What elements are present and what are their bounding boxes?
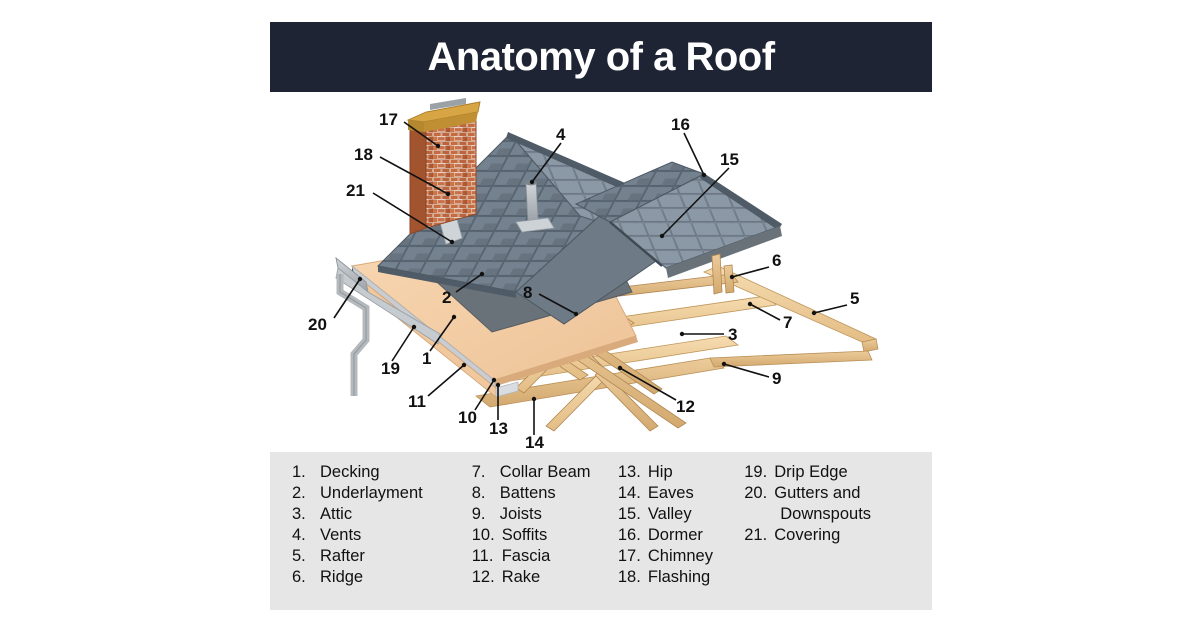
legend-item: 18. Flashing <box>618 567 744 588</box>
legend-item: 19. Drip Edge <box>744 462 922 483</box>
callout-dot-3 <box>680 332 684 336</box>
page-title: Anatomy of a Roof <box>427 37 774 77</box>
legend-number: 7. <box>472 462 500 483</box>
legend-label: Decking <box>320 462 380 483</box>
callout-dot-2 <box>480 272 484 276</box>
callout-leader-19 <box>392 327 414 361</box>
callout-dot-14 <box>532 397 536 401</box>
callout-dot-8 <box>574 312 578 316</box>
callout-dot-5 <box>812 311 816 315</box>
legend-item: 8. Battens <box>472 483 618 504</box>
legend-label: Eaves <box>648 483 694 504</box>
callout-number-19: 19 <box>381 359 400 378</box>
callout-number-20: 20 <box>308 315 327 334</box>
legend-number: 13. <box>618 462 648 483</box>
callout-dot-12 <box>618 366 622 370</box>
callout-dot-10 <box>492 378 496 382</box>
callout-number-6: 6 <box>772 251 781 270</box>
callout-number-10: 10 <box>458 408 477 427</box>
legend-item: 14. Eaves <box>618 483 744 504</box>
callout-number-7: 7 <box>783 313 792 332</box>
legend-label: Fascia <box>502 546 551 567</box>
legend-item: 15. Valley <box>618 504 744 525</box>
callout-dot-17 <box>436 144 440 148</box>
legend-label: Drip Edge <box>774 462 847 483</box>
legend-number: 5. <box>292 546 320 567</box>
dormer-support-post <box>712 254 722 294</box>
legend-panel: 1. Decking 2. Underlayment 3. Attic 4. V… <box>270 452 932 610</box>
legend-column-1: 1. Decking 2. Underlayment 3. Attic 4. V… <box>292 462 472 604</box>
callout-number-13: 13 <box>489 419 508 438</box>
legend-label: Soffits <box>502 525 548 546</box>
callout-number-16: 16 <box>671 115 690 134</box>
legend-item-continuation: Downspouts <box>744 504 922 525</box>
legend-label: Underlayment <box>320 483 423 504</box>
callout-dot-18 <box>446 192 450 196</box>
legend-item: 1. Decking <box>292 462 472 483</box>
legend-item: 17. Chimney <box>618 546 744 567</box>
legend-item: 5. Rafter <box>292 546 472 567</box>
callout-dot-11 <box>462 363 466 367</box>
callout-number-5: 5 <box>850 289 859 308</box>
roof-illustration: 17 18 21 4 16 15 <box>280 96 920 446</box>
callout-dot-13 <box>496 383 500 387</box>
title-banner: Anatomy of a Roof <box>270 22 932 92</box>
callout-leader-5 <box>814 305 847 313</box>
legend-number: 15. <box>618 504 648 525</box>
rafter-lower <box>710 351 872 367</box>
vent-pipe <box>526 182 538 222</box>
legend-label: Collar Beam <box>500 462 591 483</box>
legend-number: 21. <box>744 525 774 546</box>
legend-number: 18. <box>618 567 648 588</box>
callout-dot-7 <box>748 302 752 306</box>
callout-number-4: 4 <box>556 125 566 144</box>
legend-item: 12. Rake <box>472 567 618 588</box>
callout-dot-6 <box>730 275 734 279</box>
legend-label: Gutters and <box>774 483 860 504</box>
legend-label: Vents <box>320 525 361 546</box>
legend-label: Battens <box>500 483 556 504</box>
legend-number: 10. <box>472 525 502 546</box>
callout-number-17: 17 <box>379 110 398 129</box>
callout-number-1: 1 <box>422 349 431 368</box>
legend-number: 6. <box>292 567 320 588</box>
callout-dot-19 <box>412 325 416 329</box>
callout-number-14: 14 <box>525 433 544 452</box>
legend-label: Flashing <box>648 567 710 588</box>
legend-columns: 1. Decking 2. Underlayment 3. Attic 4. V… <box>292 462 922 604</box>
legend-item: 3. Attic <box>292 504 472 525</box>
callout-number-8: 8 <box>523 283 532 302</box>
callout-leader-6 <box>732 267 769 277</box>
callout-dot-1 <box>452 315 456 319</box>
legend-number: 12. <box>472 567 502 588</box>
legend-label: Covering <box>774 525 840 546</box>
legend-number: 2. <box>292 483 320 504</box>
legend-item: 16. Dormer <box>618 525 744 546</box>
callout-dot-20 <box>358 277 362 281</box>
legend-item: 10. Soffits <box>472 525 618 546</box>
legend-label: Valley <box>648 504 692 525</box>
legend-label: Attic <box>320 504 352 525</box>
legend-number: 11. <box>472 546 502 567</box>
legend-label: Ridge <box>320 567 363 588</box>
legend-item: 6. Ridge <box>292 567 472 588</box>
callout-number-11: 11 <box>408 392 426 411</box>
legend-label: Chimney <box>648 546 713 567</box>
legend-item: 7. Collar Beam <box>472 462 618 483</box>
callout-dot-4 <box>530 180 534 184</box>
legend-item: 21. Covering <box>744 525 922 546</box>
legend-number: 14. <box>618 483 648 504</box>
legend-label: Dormer <box>648 525 703 546</box>
callout-dot-21 <box>450 240 454 244</box>
legend-number: 17. <box>618 546 648 567</box>
callout-number-12: 12 <box>676 397 695 416</box>
callout-leader-11 <box>428 365 464 396</box>
callout-number-15: 15 <box>720 150 739 169</box>
callout-number-9: 9 <box>772 369 781 388</box>
legend-number: 19. <box>744 462 774 483</box>
callout-number-18: 18 <box>354 145 373 164</box>
callout-number-2: 2 <box>442 288 451 307</box>
legend-item: 13. Hip <box>618 462 744 483</box>
legend-label: Hip <box>648 462 673 483</box>
legend-number: 8. <box>472 483 500 504</box>
legend-number: 20. <box>744 483 774 504</box>
callout-dot-9 <box>722 362 726 366</box>
legend-number: 3. <box>292 504 320 525</box>
legend-label: Downspouts <box>774 504 871 525</box>
legend-number: 4. <box>292 525 320 546</box>
infographic-canvas: Anatomy of a Roof <box>0 0 1200 630</box>
callout-number-21: 21 <box>346 181 365 200</box>
legend-item: 2. Underlayment <box>292 483 472 504</box>
legend-label: Rafter <box>320 546 365 567</box>
legend-number: 9. <box>472 504 500 525</box>
legend-item: 4. Vents <box>292 525 472 546</box>
legend-item: 11. Fascia <box>472 546 618 567</box>
legend-label: Rake <box>502 567 541 588</box>
callout-number-3: 3 <box>728 325 737 344</box>
legend-number: 1. <box>292 462 320 483</box>
callout-dot-15 <box>660 234 664 238</box>
legend-column-4: 19. Drip Edge 20. Gutters and Downspouts… <box>744 462 922 604</box>
legend-item: 9. Joists <box>472 504 618 525</box>
legend-label: Joists <box>500 504 542 525</box>
legend-column-2: 7. Collar Beam 8. Battens 9. Joists 10. … <box>472 462 618 604</box>
legend-column-3: 13. Hip 14. Eaves 15. Valley 16. Dormer … <box>618 462 744 604</box>
legend-number: 16. <box>618 525 648 546</box>
callout-dot-16 <box>702 173 706 177</box>
legend-item: 20. Gutters and <box>744 483 922 504</box>
